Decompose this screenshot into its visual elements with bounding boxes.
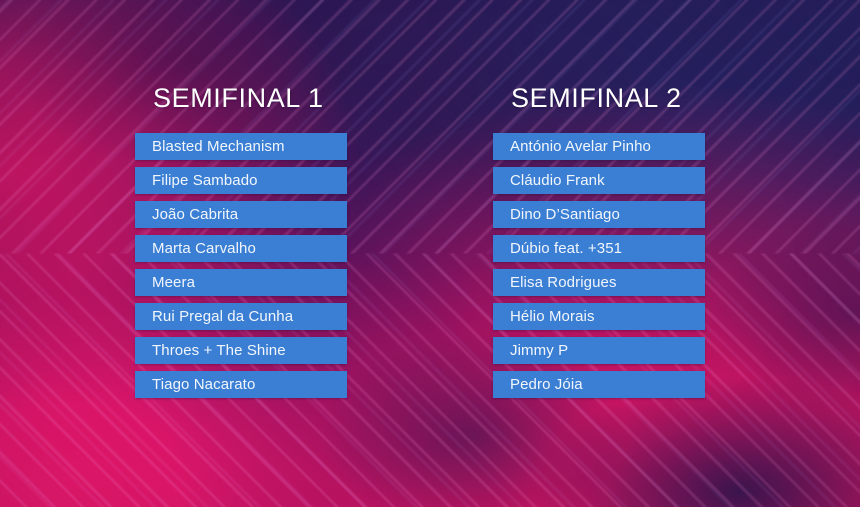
- semifinal-2-list: António Avelar Pinho Cláudio Frank Dino …: [493, 133, 705, 405]
- list-item-label: António Avelar Pinho: [510, 139, 651, 154]
- list-item[interactable]: João Cabrita: [135, 201, 347, 228]
- list-item[interactable]: Dúbio feat. +351: [493, 235, 705, 262]
- slide-canvas: SEMIFINAL 1 Blasted Mechanism Filipe Sam…: [0, 0, 860, 507]
- list-item[interactable]: Throes + The Shine: [135, 337, 347, 364]
- slide-content: SEMIFINAL 1 Blasted Mechanism Filipe Sam…: [0, 0, 860, 507]
- list-item[interactable]: António Avelar Pinho: [493, 133, 705, 160]
- list-item-label: Filipe Sambado: [152, 173, 258, 188]
- semifinal-1-list: Blasted Mechanism Filipe Sambado João Ca…: [135, 133, 347, 405]
- list-item[interactable]: Cláudio Frank: [493, 167, 705, 194]
- list-item-label: Rui Pregal da Cunha: [152, 309, 293, 324]
- list-item-label: Tiago Nacarato: [152, 377, 255, 392]
- list-item-label: João Cabrita: [152, 207, 238, 222]
- list-item-label: Pedro Jóia: [510, 377, 583, 392]
- list-item[interactable]: Marta Carvalho: [135, 235, 347, 262]
- list-item[interactable]: Dino D’Santiago: [493, 201, 705, 228]
- semifinal-2-title: SEMIFINAL 2: [511, 85, 682, 112]
- list-item[interactable]: Pedro Jóia: [493, 371, 705, 398]
- list-item-label: Meera: [152, 275, 195, 290]
- list-item[interactable]: Hélio Morais: [493, 303, 705, 330]
- list-item-label: Blasted Mechanism: [152, 139, 285, 154]
- list-item-label: Elisa Rodrigues: [510, 275, 617, 290]
- list-item[interactable]: Elisa Rodrigues: [493, 269, 705, 296]
- list-item[interactable]: Rui Pregal da Cunha: [135, 303, 347, 330]
- list-item[interactable]: Meera: [135, 269, 347, 296]
- list-item[interactable]: Blasted Mechanism: [135, 133, 347, 160]
- list-item[interactable]: Jimmy P: [493, 337, 705, 364]
- list-item[interactable]: Filipe Sambado: [135, 167, 347, 194]
- list-item-label: Jimmy P: [510, 343, 568, 358]
- semifinal-1-title: SEMIFINAL 1: [153, 85, 324, 112]
- list-item-label: Marta Carvalho: [152, 241, 256, 256]
- list-item-label: Cláudio Frank: [510, 173, 605, 188]
- list-item-label: Dino D’Santiago: [510, 207, 620, 222]
- list-item[interactable]: Tiago Nacarato: [135, 371, 347, 398]
- list-item-label: Hélio Morais: [510, 309, 595, 324]
- list-item-label: Throes + The Shine: [152, 343, 286, 358]
- list-item-label: Dúbio feat. +351: [510, 241, 622, 256]
